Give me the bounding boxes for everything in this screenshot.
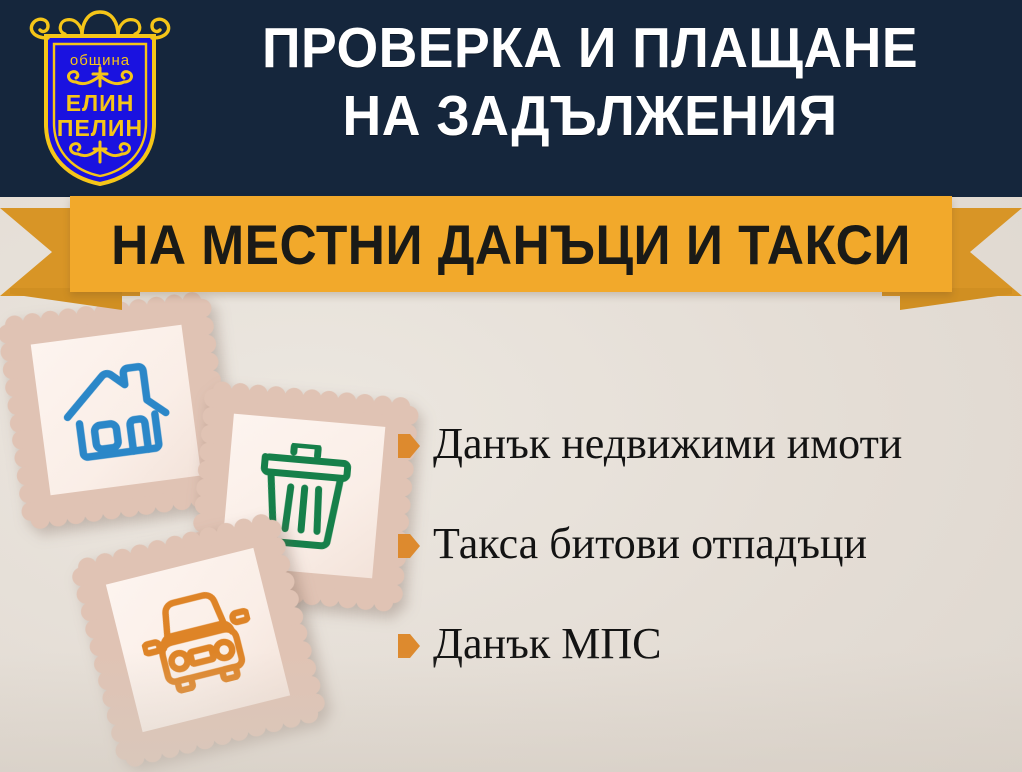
arrow-bullet-icon bbox=[398, 534, 420, 558]
poster-canvas: община ЕЛИН ПЕЛИН bbox=[0, 0, 1022, 772]
tax-types-list: Данък недвижими имоти Такса битови отпад… bbox=[398, 418, 1014, 718]
house-icon bbox=[56, 354, 176, 465]
list-item-label: Данък МПС bbox=[433, 618, 661, 670]
ribbon-label: НА МЕСТНИ ДАНЪЦИ И ТАКСИ bbox=[105, 196, 916, 292]
crest-icon: община ЕЛИН ПЕЛИН bbox=[26, 6, 174, 188]
municipality-crest: община ЕЛИН ПЕЛИН bbox=[26, 6, 174, 188]
car-front-icon bbox=[132, 580, 264, 700]
list-item[interactable]: Данък МПС bbox=[398, 618, 1014, 718]
svg-text:община: община bbox=[70, 52, 130, 69]
arrow-bullet-icon bbox=[398, 434, 420, 458]
list-item-label: Такса битови отпадъци bbox=[433, 518, 867, 570]
svg-text:ПЕЛИН: ПЕЛИН bbox=[57, 115, 143, 141]
stamp-icon-wrap bbox=[31, 325, 202, 496]
ribbon-banner: НА МЕСТНИ ДАНЪЦИ И ТАКСИ bbox=[0, 196, 1022, 308]
svg-text:ЕЛИН: ЕЛИН bbox=[66, 90, 135, 116]
list-item[interactable]: Данък недвижими имоти bbox=[398, 418, 1014, 518]
page-title: ПРОВЕРКА И ПЛАЩАНЕ НА ЗАДЪЛЖЕНИЯ bbox=[205, 14, 976, 150]
list-item[interactable]: Такса битови отпадъци bbox=[398, 518, 1014, 618]
header-bar: община ЕЛИН ПЕЛИН bbox=[0, 0, 1022, 197]
stamp-card-property-tax bbox=[6, 300, 226, 520]
arrow-bullet-icon bbox=[398, 634, 420, 658]
list-item-label: Данък недвижими имоти bbox=[433, 418, 902, 470]
stamp-card-vehicle-tax bbox=[79, 521, 317, 759]
